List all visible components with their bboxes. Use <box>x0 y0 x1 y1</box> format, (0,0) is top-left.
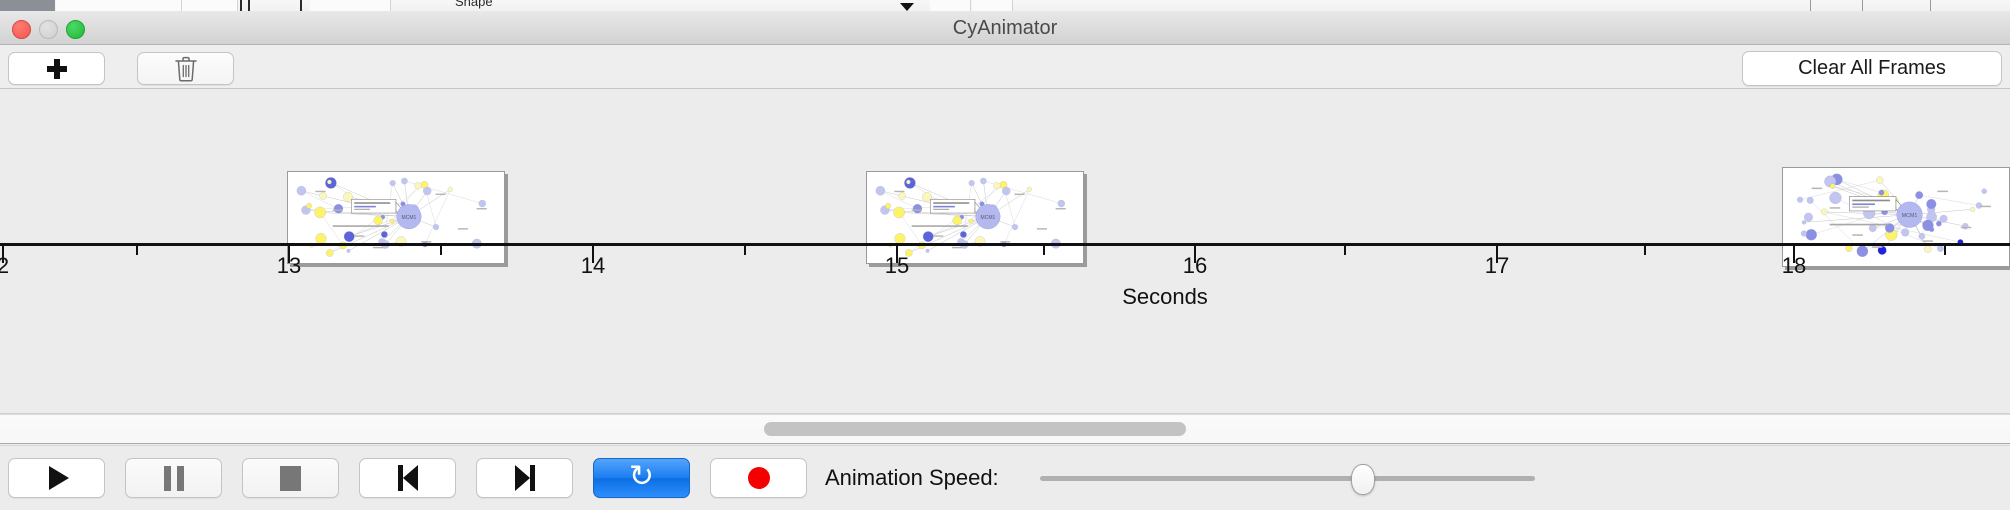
toolbar: Clear All Frames <box>0 45 2010 89</box>
svg-text:MCM1: MCM1 <box>1902 213 1918 219</box>
frame-thumbnail[interactable]: MCM1 <box>866 171 1084 264</box>
axis-tick-label: 14 <box>581 253 605 279</box>
traffic-lights <box>12 20 85 39</box>
timeline-scrollbar[interactable] <box>0 414 2010 444</box>
axis-tick <box>1344 246 1346 255</box>
svg-text:MCM1: MCM1 <box>402 215 417 221</box>
trash-icon <box>174 55 198 83</box>
skip-back-button[interactable] <box>359 458 456 498</box>
bg-segment <box>972 0 1013 11</box>
close-icon[interactable] <box>12 20 31 39</box>
axis-line <box>0 243 2010 246</box>
pause-icon <box>164 466 184 491</box>
network-graph-preview: MCM1 <box>288 172 504 263</box>
cyanimator-window: Shape CyAnimator Clear All Frames <box>0 0 2010 510</box>
axis-tick-label: 18 <box>1782 253 1806 279</box>
skip-back-icon <box>398 465 418 491</box>
axis-tick-label: 16 <box>1183 253 1207 279</box>
slider-track[interactable] <box>1040 476 1535 481</box>
loop-button[interactable]: ↻ <box>593 458 690 498</box>
bg-segment <box>930 0 971 11</box>
bg-tick <box>248 0 250 11</box>
clear-all-frames-label: Clear All Frames <box>1798 57 1946 80</box>
record-icon <box>748 467 770 489</box>
pause-button[interactable] <box>125 458 222 498</box>
stop-icon <box>280 466 301 491</box>
play-button[interactable] <box>8 458 105 498</box>
network-graph-preview: MCM1 <box>867 172 1083 263</box>
bg-segment <box>56 0 182 11</box>
title-bar[interactable]: CyAnimator <box>0 11 2010 45</box>
loop-icon: ↻ <box>629 462 654 492</box>
scrollbar-thumb[interactable] <box>764 422 1186 436</box>
bg-dark-segment <box>0 0 55 11</box>
plus-icon <box>47 59 67 79</box>
window-title: CyAnimator <box>0 11 2010 45</box>
stop-button[interactable] <box>242 458 339 498</box>
axis-title: Seconds <box>1122 284 1208 310</box>
axis-tick-label: 17 <box>1485 253 1509 279</box>
axis-tick <box>136 246 138 255</box>
frame-thumbnail[interactable]: MCM1 <box>1782 167 2010 267</box>
slider-thumb[interactable] <box>1351 464 1375 495</box>
clear-all-frames-button[interactable]: Clear All Frames <box>1742 51 2002 86</box>
bg-segment <box>182 0 238 11</box>
bg-segment <box>310 0 391 11</box>
axis-tick-label: 13 <box>277 253 301 279</box>
minimize-icon[interactable] <box>39 20 58 39</box>
axis-tick-label: 15 <box>885 253 909 279</box>
frame-thumbnail[interactable]: MCM1 <box>287 171 505 264</box>
playback-controls: ↻ Animation Speed: <box>0 445 2010 510</box>
timeline-panel[interactable]: MCM1 MCM1 MCM1 213141 <box>0 89 2010 414</box>
axis-tick <box>440 246 442 255</box>
add-frame-button[interactable] <box>8 52 105 85</box>
play-icon <box>49 466 69 490</box>
skip-forward-button[interactable] <box>476 458 573 498</box>
bg-tick <box>1862 0 1863 11</box>
axis-tick <box>744 246 746 255</box>
svg-text:MCM1: MCM1 <box>981 215 996 221</box>
animation-speed-label: Animation Speed: <box>825 458 999 498</box>
bg-tick <box>240 0 242 11</box>
axis-tick <box>1043 246 1045 255</box>
record-button[interactable] <box>710 458 807 498</box>
bg-marker-icon <box>900 3 914 11</box>
bg-window-label: Shape <box>455 0 493 9</box>
bg-tick <box>1930 0 1931 11</box>
axis-tick-label: 2 <box>0 253 9 279</box>
zoom-icon[interactable] <box>66 20 85 39</box>
network-graph-preview: MCM1 <box>1783 168 2009 266</box>
skip-forward-icon <box>515 465 535 491</box>
axis-tick <box>1944 246 1946 255</box>
bg-tick <box>300 0 302 11</box>
bg-tick <box>1810 0 1811 11</box>
delete-frame-button[interactable] <box>137 52 234 85</box>
axis-tick <box>1644 246 1646 255</box>
